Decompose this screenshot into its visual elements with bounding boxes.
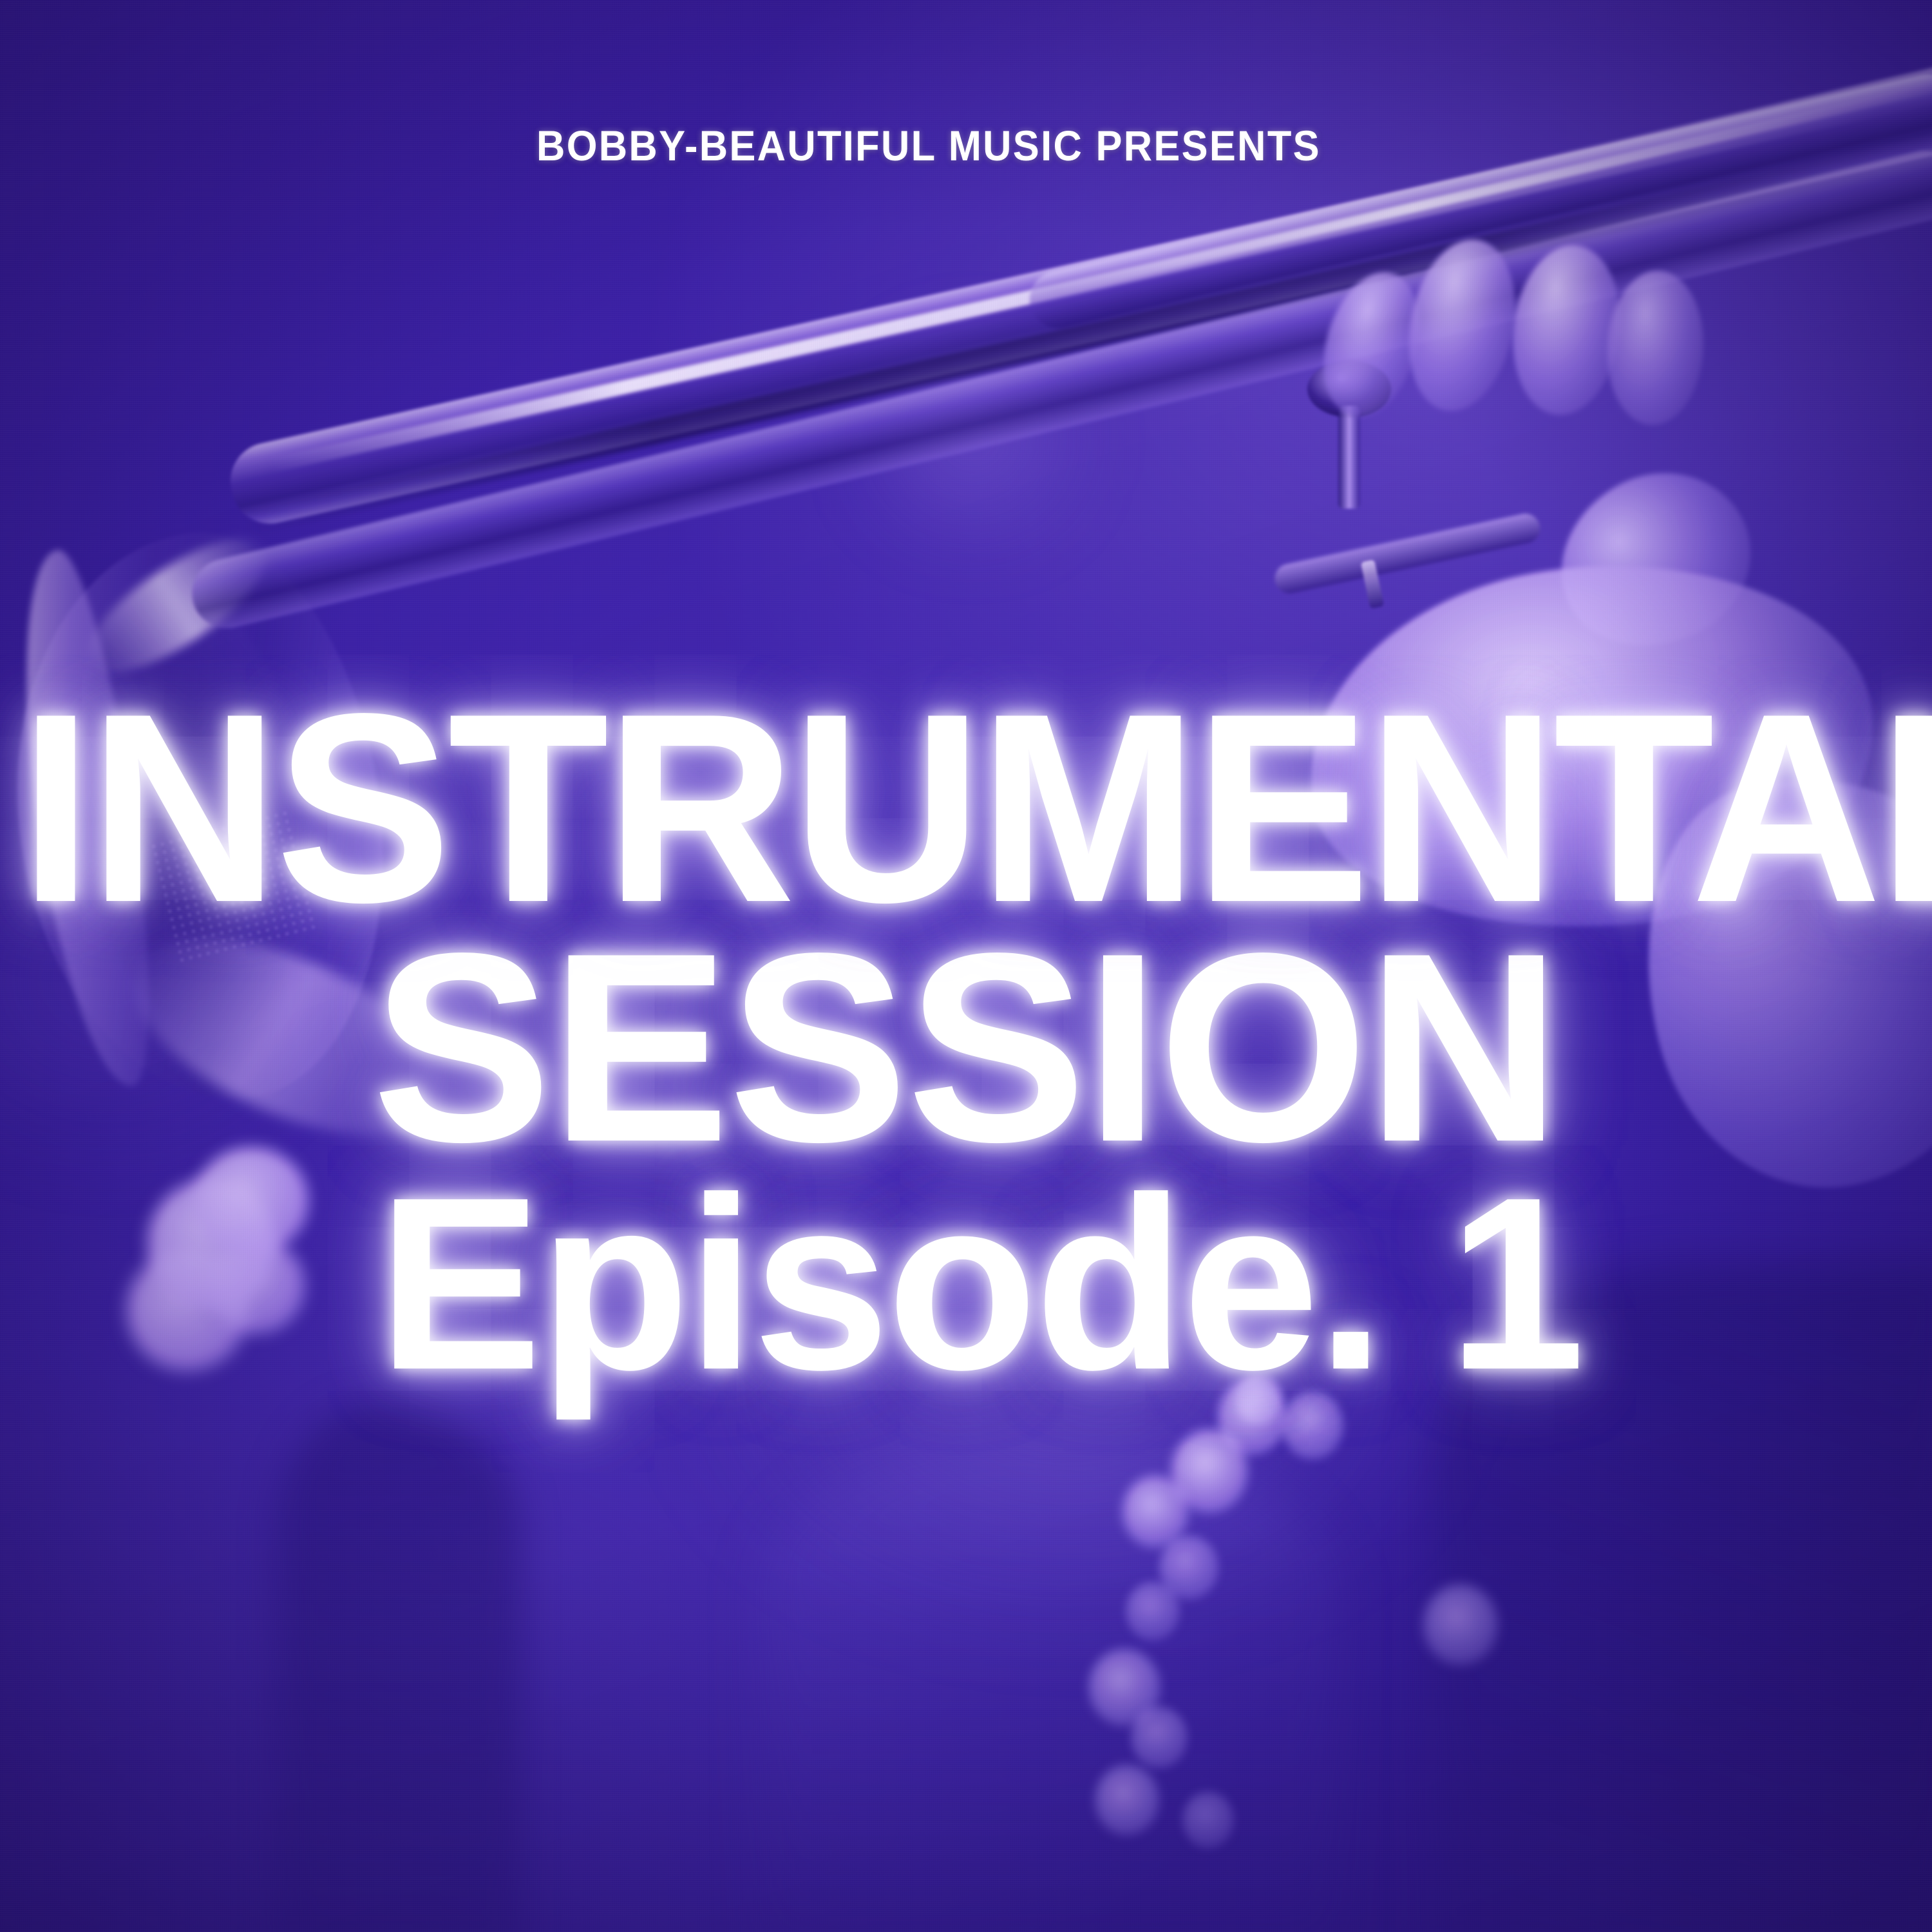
title-block: INSTRUMENTAL SESSION Episode. 1 — [0, 674, 1932, 1406]
title-line-instrumental: INSTRUMENTAL — [19, 674, 1913, 943]
title-line-episode: Episode. 1 — [14, 1160, 1932, 1406]
presents-label: BOBBY-BEAUTIFUL MUSIC PRESENTS — [30, 121, 1827, 170]
album-cover-artwork: BOBBY-BEAUTIFUL MUSIC PRESENTS INSTRUMEN… — [0, 0, 1932, 1932]
